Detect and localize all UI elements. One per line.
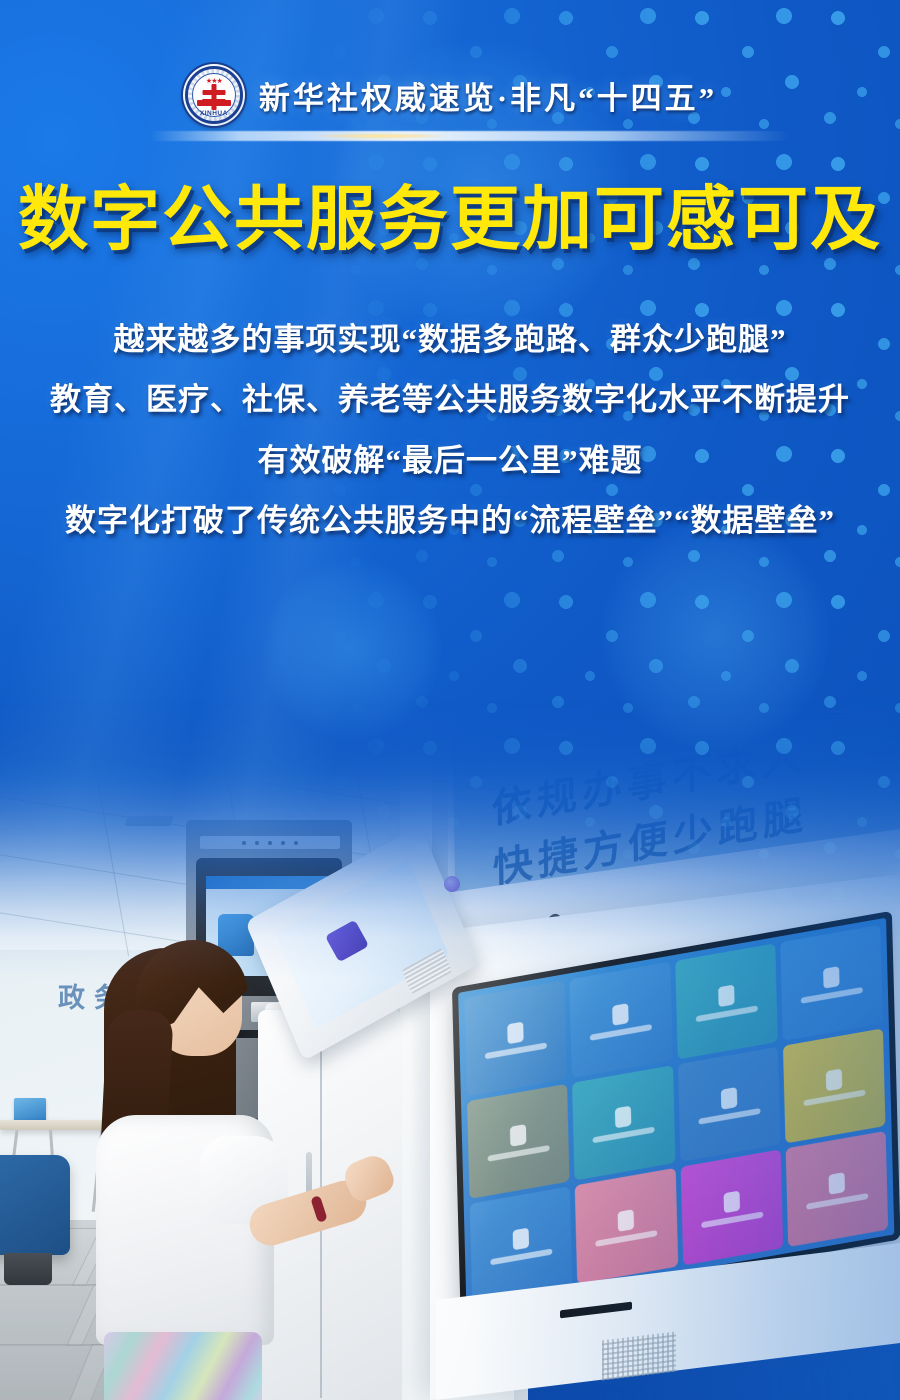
tie-dye-pants [104, 1332, 262, 1400]
person-using-kiosk [96, 940, 316, 1400]
kiosk-tile[interactable] [572, 1065, 675, 1181]
poster-root: ★★★ XINHUA 新华社权威速览·非凡“十四五” 数字公共服务更加可感可及 … [0, 0, 900, 1400]
tile-icon [828, 1172, 845, 1195]
banner-emblem-icon [498, 718, 520, 744]
indicator-dot-icon [242, 841, 246, 845]
body-text-block: 越来越多的事项实现“数据多跑路、群众少跑腿” 教育、医疗、社保、养老等公共服务数… [0, 310, 900, 552]
tile-caption [485, 1042, 547, 1059]
header-divider-streak [150, 131, 790, 141]
tile-icon [723, 1191, 740, 1214]
tile-caption [590, 1024, 652, 1041]
tile-icon [613, 1003, 630, 1026]
office-chair [0, 1155, 70, 1255]
tile-caption [488, 1145, 550, 1162]
tile-icon [826, 1069, 843, 1092]
kiosk-tile[interactable] [575, 1168, 678, 1284]
logo-wordmark: XINHUA [183, 110, 245, 117]
kiosk-tile[interactable] [464, 980, 567, 1096]
tile-icon [720, 1088, 737, 1111]
logo-tower-icon [211, 84, 216, 110]
kiosk-tile[interactable] [675, 943, 778, 1059]
tile-caption [701, 1212, 763, 1229]
header-title: 新华社权威速览·非凡“十四五” [259, 73, 717, 118]
kiosk-tile[interactable] [785, 1131, 888, 1247]
body-line: 数字化打破了传统公共服务中的“流程壁垒”“数据壁垒” [0, 491, 900, 551]
poster-header: ★★★ XINHUA 新华社权威速览·非凡“十四五” [0, 64, 900, 126]
body-line: 教育、医疗、社保、养老等公共服务数字化水平不断提升 [0, 370, 900, 430]
photo-government-service-hall: 政务公开区 依规办事不求人 快捷方 [0, 700, 900, 1400]
kiosk-tile[interactable] [780, 925, 883, 1041]
indicator-dot-icon [281, 841, 285, 845]
tile-icon [507, 1021, 524, 1044]
tile-icon [513, 1228, 530, 1251]
pad-indicator-icon [444, 876, 460, 892]
tile-icon [615, 1106, 632, 1129]
banner-emblem-label [528, 701, 640, 734]
ceiling-light-panel [124, 816, 174, 826]
body-line: 有效破解“最后一公里”难题 [0, 431, 900, 491]
page-title: 数字公共服务更加可感可及 [0, 185, 900, 258]
tile-icon [718, 984, 735, 1007]
photo-scene: 政务公开区 依规办事不求人 快捷方 [0, 700, 900, 1400]
kiosk-tile[interactable] [680, 1150, 783, 1266]
tile-caption [698, 1108, 760, 1125]
kiosk-tile[interactable] [570, 962, 673, 1078]
kiosk-left-top-label [200, 836, 340, 849]
tile-caption [596, 1230, 658, 1247]
logo-base [197, 100, 231, 106]
indicator-dot-icon [268, 841, 272, 845]
ceiling-grid-line [80, 700, 130, 956]
tile-caption [803, 1090, 865, 1107]
indicator-dot-icon [255, 841, 259, 845]
kiosk-tile[interactable] [783, 1028, 886, 1144]
indicator-dot-icon [294, 841, 298, 845]
desk-info-card [14, 1098, 46, 1122]
speaker-vent [602, 1331, 676, 1380]
kiosk-tile[interactable] [467, 1083, 570, 1199]
tile-icon [823, 966, 840, 989]
tile-caption [490, 1249, 552, 1266]
tile-icon [510, 1125, 527, 1148]
body-line: 越来越多的事项实现“数据多跑路、群众少跑腿” [0, 310, 900, 370]
kiosk-tile[interactable] [677, 1046, 780, 1162]
xinhua-logo-icon: ★★★ XINHUA [183, 64, 245, 126]
tile-icon [618, 1209, 635, 1232]
tile-caption [695, 1005, 757, 1022]
tile-caption [593, 1127, 655, 1144]
tile-caption [801, 987, 863, 1004]
tile-caption [806, 1193, 868, 1210]
